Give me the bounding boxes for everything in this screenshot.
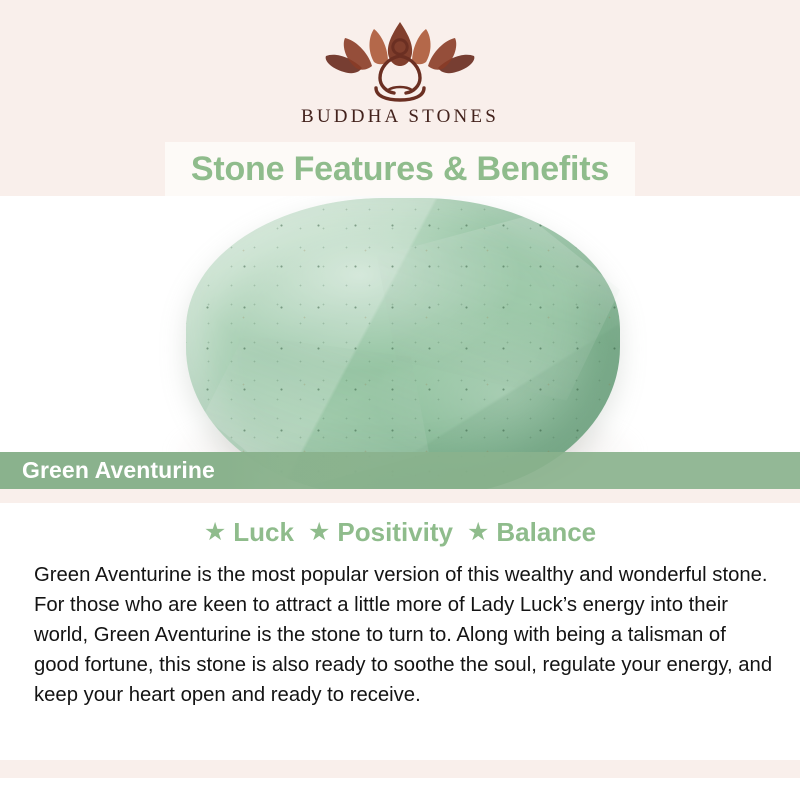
blush-footer (0, 760, 800, 778)
white-footer (0, 778, 800, 800)
feature-label: Luck (233, 517, 294, 548)
feature-item-positivity: ★ Positivity (308, 517, 453, 548)
blush-divider (0, 489, 800, 503)
feature-item-balance: ★ Balance (467, 517, 596, 548)
star-icon: ★ (204, 520, 226, 545)
feature-item-luck: ★ Luck (204, 517, 294, 548)
stone-speckle-texture (186, 198, 620, 492)
brand-logo: BUDDHA STONES (0, 16, 800, 128)
brand-name: BUDDHA STONES (301, 106, 499, 128)
lotus-meditation-icon (314, 16, 486, 102)
star-icon: ★ (467, 520, 489, 545)
product-info-card: BUDDHA STONES Stone Features & Benefits … (0, 0, 800, 800)
stone-description: Green Aventurine is the most popular ver… (34, 560, 774, 710)
feature-list: ★ Luck ★ Positivity ★ Balance (0, 503, 800, 548)
page-title: Stone Features & Benefits (191, 150, 609, 189)
title-banner: Stone Features & Benefits (165, 142, 635, 196)
stone-name-label: Green Aventurine (22, 457, 215, 484)
green-aventurine-photo (0, 196, 800, 492)
card-content: ★ Luck ★ Positivity ★ Balance Green Aven… (0, 503, 800, 760)
feature-label: Balance (496, 517, 596, 548)
stone-photo-area (0, 196, 800, 492)
feature-label: Positivity (337, 517, 453, 548)
star-icon: ★ (308, 520, 330, 545)
stone-name-bar: Green Aventurine (0, 452, 800, 489)
card-header: BUDDHA STONES Stone Features & Benefits (0, 0, 800, 196)
stone-body (186, 198, 620, 492)
